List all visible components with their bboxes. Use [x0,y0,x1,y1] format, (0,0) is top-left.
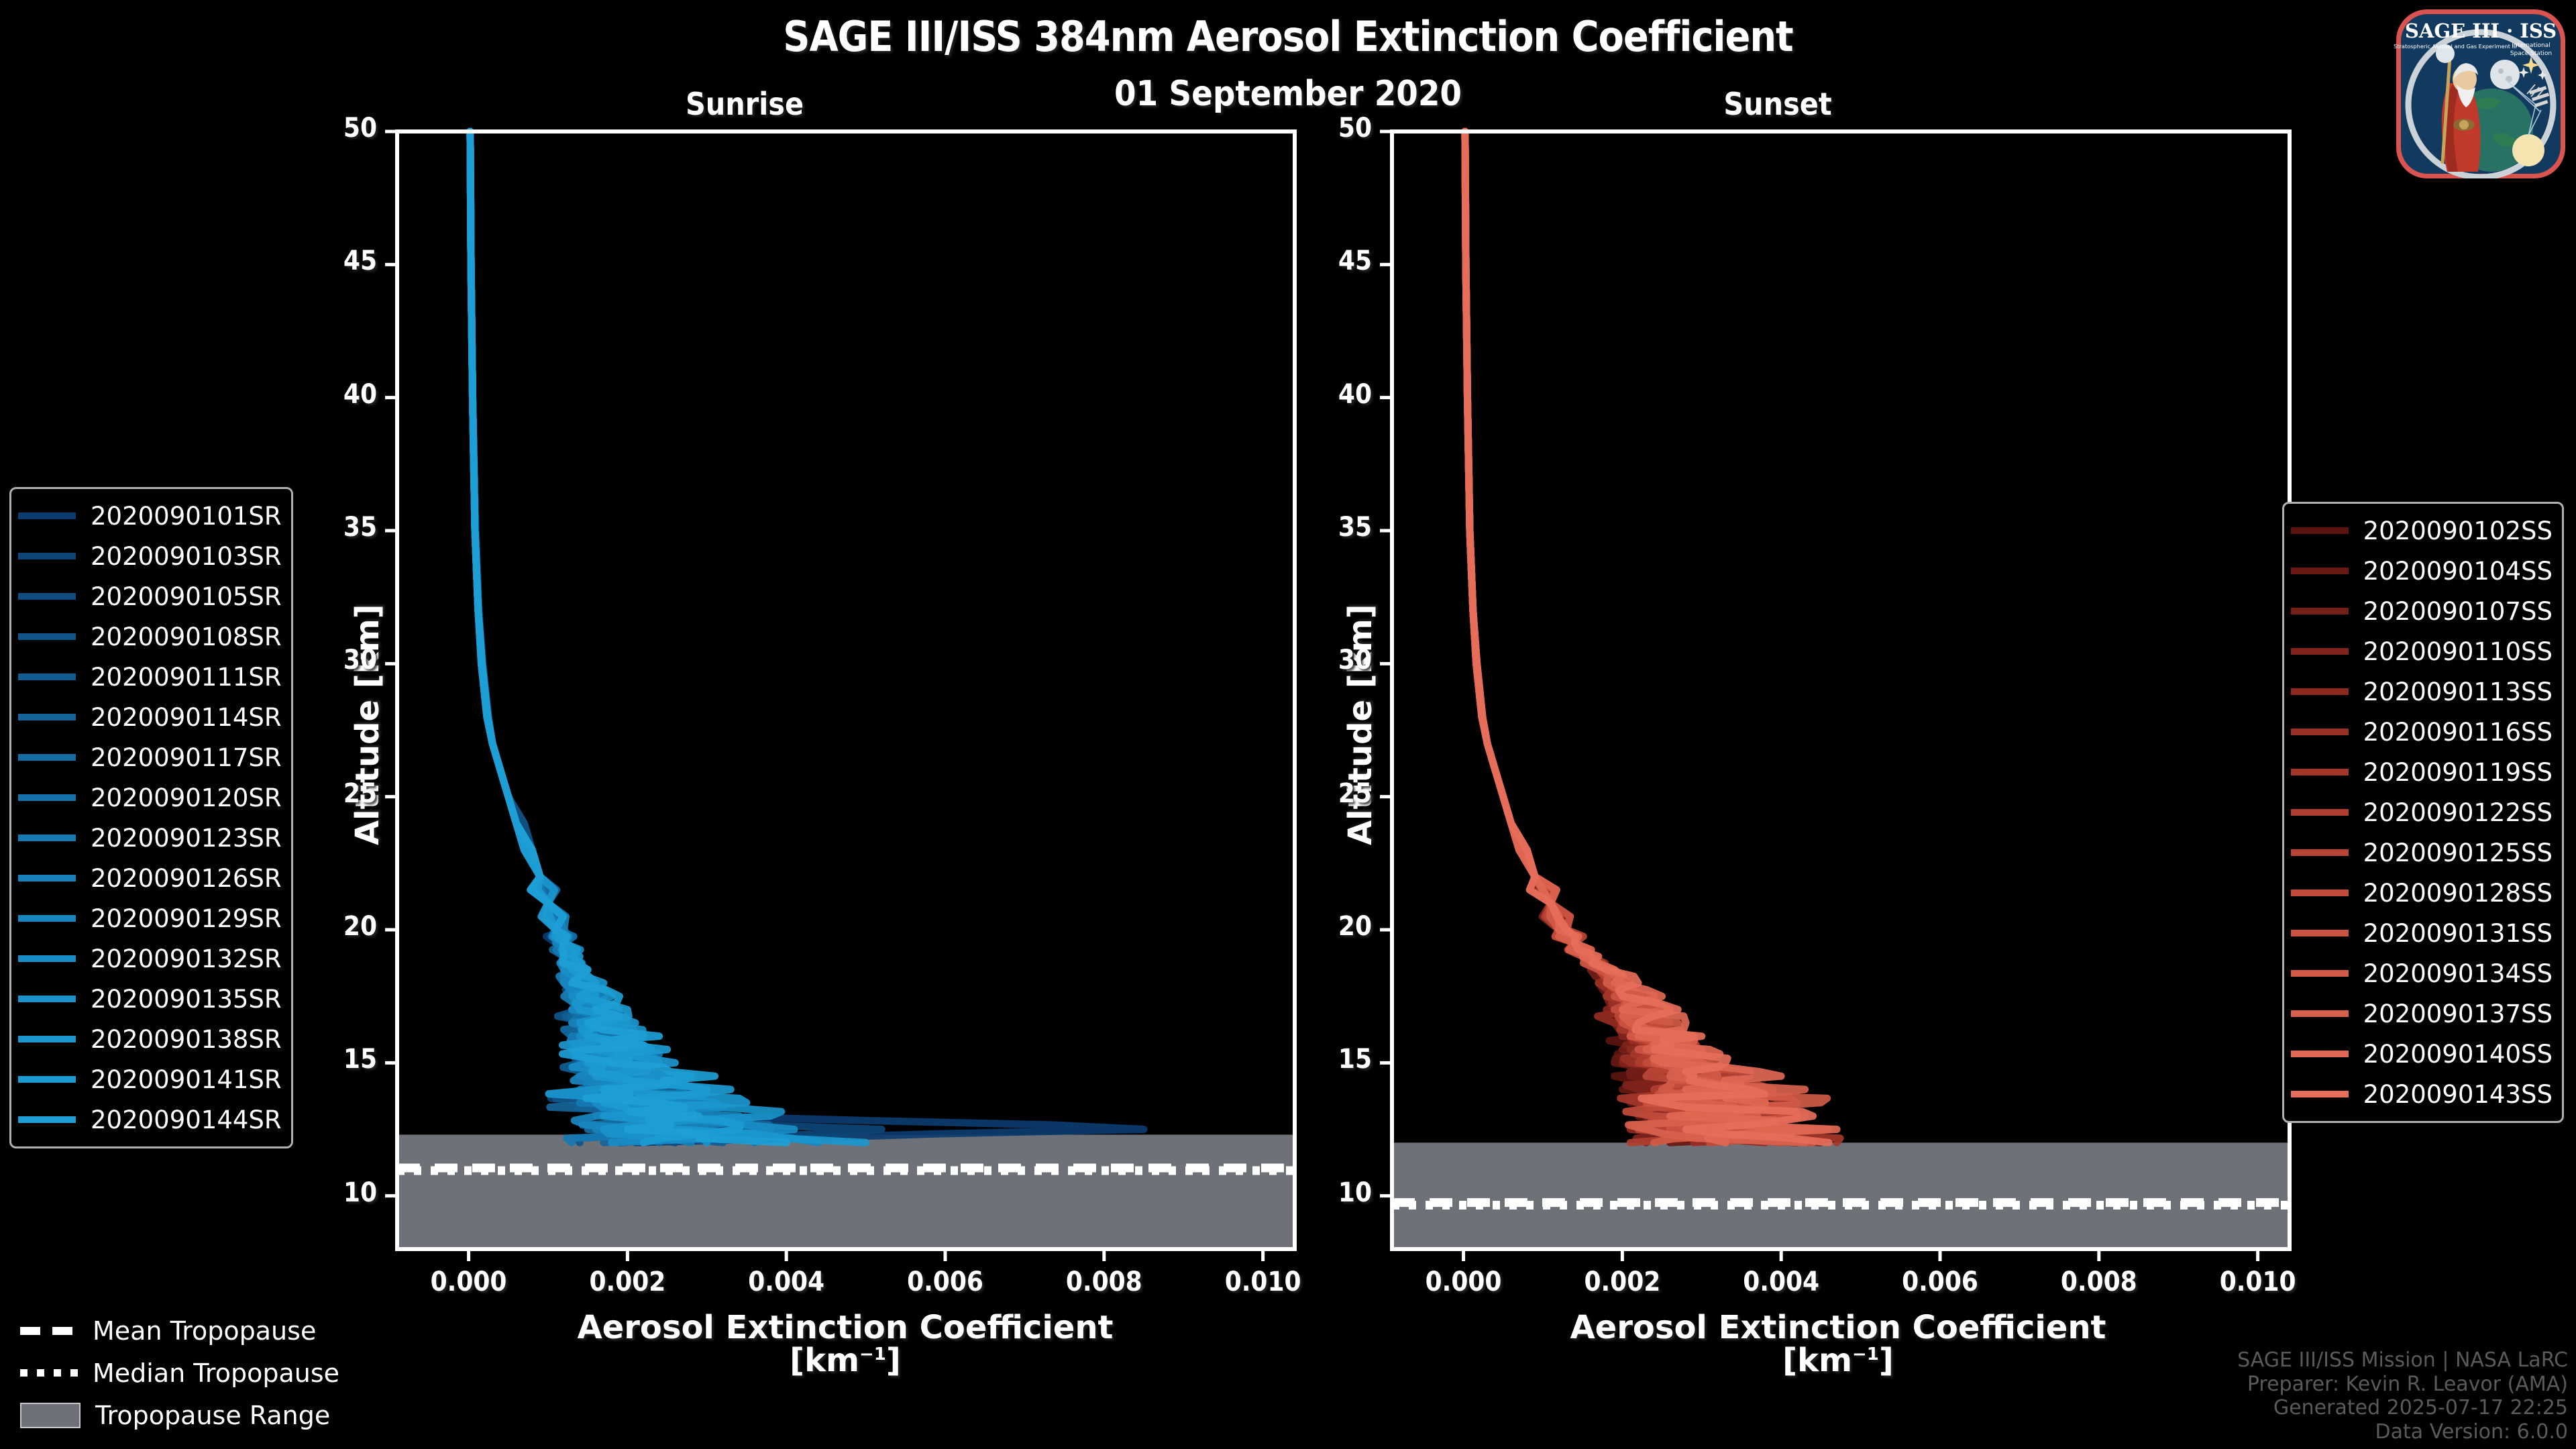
right-y-tick: 15 [1291,1044,1372,1075]
sunrise-legend-label: 2020090138SR [91,1025,282,1054]
logo-subtitle-right-2: Space Station [2510,50,2552,57]
xunit-exponent: −1 [859,1344,886,1364]
sunset-legend-label: 2020090113SS [2363,678,2553,706]
line-swatch-icon [2291,930,2349,936]
xunit-prefix: [km [1782,1342,1852,1379]
sunrise-legend-item[interactable]: 2020090135SR [18,979,282,1019]
sunset-legend-item[interactable]: 2020090104SS [2291,551,2553,591]
line-swatch-icon [2291,809,2349,816]
sunrise-legend[interactable]: 2020090101SR2020090103SR2020090105SR2020… [9,487,293,1148]
tropopause-legend: Mean Tropopause Median Tropopause Tropop… [20,1309,339,1436]
left-x-axis-label-line1: Aerosol Extinction Coefficient [402,1311,1288,1344]
legend-label-median-tropopause: Median Tropopause [93,1358,339,1388]
line-swatch-icon [2291,608,2349,614]
left-x-tick: 0.010 [1210,1267,1317,1297]
line-swatch-icon [18,593,76,600]
left-x-tick: 0.002 [574,1267,681,1297]
sunset-legend-item[interactable]: 2020090143SS [2291,1074,2553,1114]
sunset-legend-label: 2020090110SS [2363,637,2553,666]
sunset-legend-label: 2020090125SS [2363,839,2553,867]
sunrise-legend-label: 2020090111SR [91,663,282,692]
plot-area [0,0,2576,1449]
sunset-legend-label: 2020090119SS [2363,758,2553,787]
sunset-legend-label: 2020090128SS [2363,879,2553,908]
filled-band-icon [20,1403,80,1428]
legend-item-tropopause-range: Tropopause Range [20,1394,339,1436]
right-x-axis-label-line2: [km−1] [1395,1344,2281,1377]
sunrise-legend-label: 2020090105SR [91,582,282,611]
left-y-tick: 15 [297,1044,377,1075]
line-swatch-icon [18,794,76,801]
left-y-tick: 40 [297,379,377,410]
sunset-legend-label: 2020090122SS [2363,798,2553,827]
line-swatch-icon [18,915,76,922]
legend-label-mean-tropopause: Mean Tropopause [93,1316,316,1346]
credits-data-version: Data Version: 6.0.0 [2237,1420,2568,1444]
right-x-axis-label: Aerosol Extinction Coefficient [km−1] [1395,1311,2281,1377]
sunset-legend-item[interactable]: 2020090134SS [2291,953,2553,994]
legend-item-mean-tropopause: Mean Tropopause [20,1309,339,1352]
sunrise-legend-label: 2020090144SR [91,1106,282,1134]
right-y-axis-label: Altitude [km] [1342,604,1379,845]
line-swatch-icon [2291,970,2349,977]
left-x-tick: 0.004 [733,1267,840,1297]
sunrise-legend-item[interactable]: 2020090111SR [18,657,282,697]
right-y-tick: 35 [1291,512,1372,543]
line-swatch-icon [18,513,76,519]
sunrise-legend-item[interactable]: 2020090126SR [18,858,282,898]
line-swatch-icon [18,996,76,1002]
logo-subtitle-left: Stratospheric Aerosol and Gas Experiment… [2394,43,2517,50]
line-swatch-icon [2291,1051,2349,1057]
left-y-tick: 45 [297,246,377,276]
sunset-legend[interactable]: 2020090102SS2020090104SS2020090107SS2020… [2282,502,2564,1123]
sunrise-legend-label: 2020090117SR [91,743,282,772]
line-swatch-icon [2291,890,2349,896]
left-y-tick: 10 [297,1177,377,1208]
credits-generated: Generated 2025-07-17 22:25 [2237,1396,2568,1419]
right-x-tick: 0.010 [2204,1267,2312,1297]
line-swatch-icon [18,1036,76,1042]
left-x-tick: 0.000 [415,1267,523,1297]
line-swatch-icon [2291,568,2349,574]
logo-subtitle-right-1: International [2512,42,2550,49]
sunrise-legend-item[interactable]: 2020090108SR [18,616,282,657]
line-swatch-icon [18,1116,76,1123]
right-x-tick: 0.008 [2045,1267,2153,1297]
legend-label-tropopause-range: Tropopause Range [95,1401,330,1430]
left-y-axis-label: Altitude [km] [349,604,386,845]
left-y-tick: 50 [297,113,377,144]
line-swatch-icon [18,835,76,841]
sunset-legend-item[interactable]: 2020090137SS [2291,994,2553,1034]
sunrise-legend-label: 2020090129SR [91,904,282,933]
right-y-tick: 40 [1291,379,1372,410]
sunrise-legend-label: 2020090123SR [91,824,282,853]
sunset-legend-label: 2020090104SS [2363,557,2553,586]
line-swatch-icon [2291,527,2349,534]
sunset-legend-label: 2020090131SS [2363,919,2553,948]
sunrise-legend-item[interactable]: 2020090103SR [18,536,282,576]
line-swatch-icon [2291,769,2349,775]
sunset-legend-item[interactable]: 2020090128SS [2291,873,2553,913]
sunrise-legend-label: 2020090101SR [91,502,282,531]
left-x-tick: 0.006 [892,1267,999,1297]
sunset-legend-item[interactable]: 2020090122SS [2291,792,2553,833]
sunset-legend-item[interactable]: 2020090119SS [2291,752,2553,792]
sunset-legend-label: 2020090140SS [2363,1040,2553,1069]
sunrise-legend-item[interactable]: 2020090101SR [18,496,282,536]
line-swatch-icon [2291,729,2349,735]
dashed-line-icon [20,1327,78,1335]
sunset-legend-item[interactable]: 2020090140SS [2291,1034,2553,1074]
line-swatch-icon [18,875,76,881]
logo-arc-text: BALL · NASA LANGLEY RESEARCH CENTER · ES… [2391,4,2571,6]
line-swatch-icon [18,955,76,962]
right-x-tick: 0.006 [1886,1267,1994,1297]
sage-iii-iss-logo: SAGE III · ISS Stratospheric Aerosol and… [2391,4,2571,184]
sunrise-legend-item[interactable]: 2020090132SR [18,938,282,979]
left-y-tick: 35 [297,512,377,543]
sunrise-legend-item[interactable]: 2020090123SR [18,818,282,858]
sunset-legend-label: 2020090107SS [2363,597,2553,626]
sunrise-legend-label: 2020090132SR [91,945,282,973]
sunrise-legend-item[interactable]: 2020090141SR [18,1059,282,1099]
sunrise-legend-item[interactable]: 2020090114SR [18,697,282,737]
line-swatch-icon [18,714,76,720]
left-x-axis-label: Aerosol Extinction Coefficient [km−1] [402,1311,1288,1377]
sunset-legend-item[interactable]: 2020090131SS [2291,913,2553,953]
xunit-prefix: [km [790,1342,859,1379]
line-swatch-icon [2291,1010,2349,1017]
xunit-exponent: −1 [1852,1344,1879,1364]
sunset-legend-item[interactable]: 2020090110SS [2291,631,2553,672]
sunset-legend-item[interactable]: 2020090113SS [2291,672,2553,712]
sunrise-legend-item[interactable]: 2020090105SR [18,576,282,616]
sunrise-legend-label: 2020090135SR [91,985,282,1014]
line-swatch-icon [2291,648,2349,655]
left-y-tick: 30 [297,645,377,676]
sunrise-legend-item[interactable]: 2020090117SR [18,737,282,777]
left-x-axis-label-line2: [km−1] [402,1344,1288,1377]
xunit-suffix: ] [1879,1342,1894,1379]
line-swatch-icon [18,754,76,761]
left-y-tick: 20 [297,911,377,942]
line-swatch-icon [18,553,76,559]
left-x-tick: 0.008 [1051,1267,1158,1297]
sunrise-legend-item[interactable]: 2020090144SR [18,1099,282,1140]
sunset-legend-item[interactable]: 2020090107SS [2291,591,2553,631]
dotted-line-icon [20,1369,78,1377]
sunset-legend-item[interactable]: 2020090102SS [2291,511,2553,551]
sunset-legend-label: 2020090116SS [2363,718,2553,747]
right-y-tick: 45 [1291,246,1372,276]
sunset-legend-item[interactable]: 2020090125SS [2291,833,2553,873]
sunrise-legend-label: 2020090120SR [91,784,282,812]
line-swatch-icon [18,633,76,640]
sunrise-legend-label: 2020090114SR [91,703,282,732]
logo-title-text: SAGE III · ISS [2405,19,2557,42]
right-y-tick: 50 [1291,113,1372,144]
line-swatch-icon [2291,688,2349,695]
sunrise-legend-item[interactable]: 2020090120SR [18,777,282,818]
credits-mission: SAGE III/ISS Mission | NASA LaRC [2237,1348,2568,1372]
right-x-tick: 0.004 [1727,1267,1835,1297]
sunrise-legend-item[interactable]: 2020090138SR [18,1019,282,1059]
sunset-legend-item[interactable]: 2020090116SS [2291,712,2553,752]
sunrise-legend-label: 2020090141SR [91,1065,282,1094]
sunset-legend-label: 2020090137SS [2363,1000,2553,1028]
legend-item-median-tropopause: Median Tropopause [20,1352,339,1394]
credits-preparer: Preparer: Kevin R. Leavor (AMA) [2237,1373,2568,1396]
sunrise-legend-item[interactable]: 2020090129SR [18,898,282,938]
credits-block: SAGE III/ISS Mission | NASA LaRC Prepare… [2237,1348,2568,1444]
sunset-legend-label: 2020090102SS [2363,517,2553,545]
right-y-tick: 30 [1291,645,1372,676]
right-y-tick: 10 [1291,1177,1372,1208]
left-y-tick: 25 [297,778,377,809]
line-swatch-icon [18,1076,76,1083]
right-y-tick: 25 [1291,778,1372,809]
right-x-tick: 0.002 [1568,1267,1676,1297]
xunit-suffix: ] [886,1342,901,1379]
sunset-legend-label: 2020090134SS [2363,959,2553,988]
line-swatch-icon [2291,1091,2349,1097]
sunrise-legend-label: 2020090126SR [91,864,282,893]
right-y-tick: 20 [1291,911,1372,942]
sunrise-legend-label: 2020090103SR [91,542,282,571]
right-x-axis-label-line1: Aerosol Extinction Coefficient [1395,1311,2281,1344]
line-swatch-icon [18,674,76,680]
line-swatch-icon [2291,849,2349,856]
right-x-tick: 0.000 [1410,1267,1517,1297]
sunrise-legend-label: 2020090108SR [91,623,282,651]
sunset-legend-label: 2020090143SS [2363,1080,2553,1109]
